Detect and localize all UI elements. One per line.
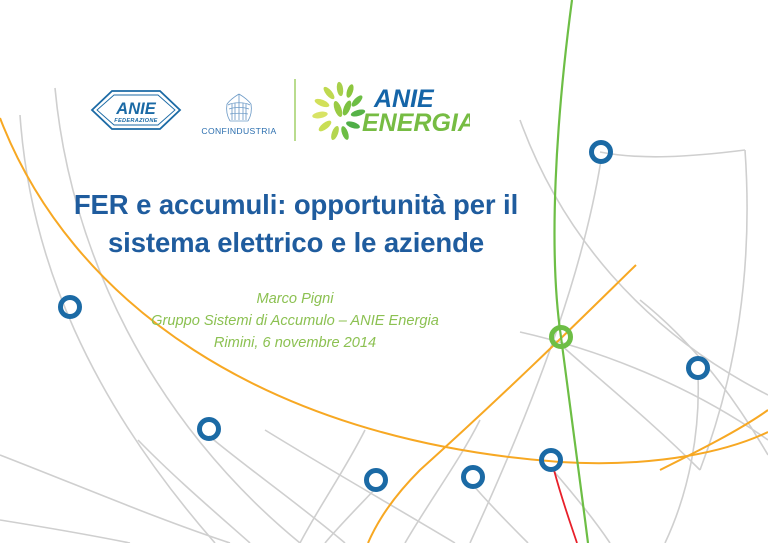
slide-title: FER e accumuli: opportunità per il siste… xyxy=(34,186,558,262)
presentation-slide: ANIE FEDERAZIONE xyxy=(0,0,768,543)
logo-divider xyxy=(294,79,296,141)
anie-energia-logo: ANIE ENERGIA xyxy=(312,79,470,141)
subtitle-author: Marco Pigni xyxy=(60,288,530,310)
anie-federazione-subtext: FEDERAZIONE xyxy=(114,118,157,124)
logo-bar: ANIE FEDERAZIONE xyxy=(88,76,468,144)
confindustria-emblem-icon xyxy=(221,92,257,124)
slide-subtitle: Marco Pigni Gruppo Sistemi di Accumulo –… xyxy=(60,288,530,355)
title-line-1: FER e accumuli: opportunità per il xyxy=(74,189,518,220)
subtitle-affiliation: Gruppo Sistemi di Accumulo – ANIE Energi… xyxy=(60,310,530,332)
anie-energia-secondary-wordmark: ENERGIA xyxy=(362,109,470,137)
anie-federazione-logo: ANIE FEDERAZIONE xyxy=(88,87,184,133)
anie-federazione-wordmark: ANIE xyxy=(115,100,156,118)
title-line-2: sistema elettrico e le aziende xyxy=(108,227,484,258)
confindustria-wordmark: CONFINDUSTRIA xyxy=(201,126,276,136)
subtitle-event: Rimini, 6 novembre 2014 xyxy=(60,332,530,354)
slide-content: ANIE FEDERAZIONE xyxy=(0,0,768,543)
confindustria-logo: CONFINDUSTRIA xyxy=(198,84,280,136)
sunburst-icon xyxy=(312,81,366,141)
